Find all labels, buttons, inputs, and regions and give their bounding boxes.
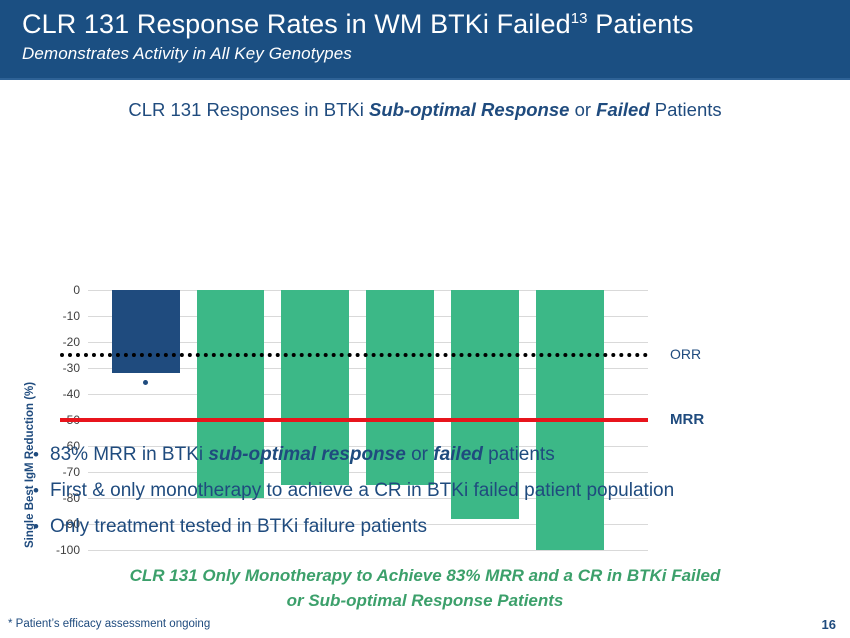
page-number: 16 xyxy=(822,617,836,632)
chart-title: CLR 131 Responses in BTKi Sub-optimal Re… xyxy=(0,99,850,121)
slide-title: CLR 131 Response Rates in WM BTKi Failed… xyxy=(22,6,850,42)
bullet-text: First & only monotherapy to achieve a CR… xyxy=(50,473,674,509)
slide-title-tail: Patients xyxy=(588,9,694,39)
bullet-text: 83% MRR in BTKi sub-optimal response or … xyxy=(50,437,555,473)
chart-title-part2: or xyxy=(569,99,596,120)
bullet-item: •First & only monotherapy to achieve a C… xyxy=(22,473,842,509)
callout-text: CLR 131 Only Monotherapy to Achieve 83% … xyxy=(0,563,850,613)
y-axis-tick-label: -100 xyxy=(56,543,80,557)
y-axis-tick-label: -40 xyxy=(63,387,80,401)
callout-line-1: CLR 131 Only Monotherapy to Achieve 83% … xyxy=(0,563,850,588)
reference-label-orr: ORR xyxy=(670,346,701,362)
bar-chart: Single Best IgM Reduction (%) 0-10-20-30… xyxy=(0,140,850,425)
bullet-dot-icon: • xyxy=(22,473,50,509)
slide-title-superscript: 13 xyxy=(571,10,588,27)
reference-line-mrr xyxy=(60,418,648,422)
bullet-text: Only treatment tested in BTKi failure pa… xyxy=(50,509,427,545)
bullet-dot-icon: • xyxy=(22,509,50,545)
slide-header: CLR 131 Response Rates in WM BTKi Failed… xyxy=(0,0,850,80)
asterisk-marker-icon xyxy=(143,380,148,385)
y-axis-tick-label: 0 xyxy=(73,283,80,297)
reference-label-mrr: MRR xyxy=(670,411,704,428)
chart-title-part1: CLR 131 Responses in BTKi xyxy=(128,99,369,120)
chart-title-emph2: Failed xyxy=(596,99,649,120)
gridline xyxy=(88,550,648,551)
slide-subtitle: Demonstrates Activity in All Key Genotyp… xyxy=(22,42,850,66)
y-axis-tick-label: -20 xyxy=(63,335,80,349)
reference-line-orr xyxy=(60,353,648,357)
bullet-list: •83% MRR in BTKi sub-optimal response or… xyxy=(22,437,842,545)
callout-line-2: or Sub-optimal Response Patients xyxy=(0,588,850,613)
bar[interactable] xyxy=(112,290,180,373)
bullet-item: •83% MRR in BTKi sub-optimal response or… xyxy=(22,437,842,473)
footnote: * Patient’s efficacy assessment ongoing xyxy=(8,618,210,630)
chart-title-part3: Patients xyxy=(650,99,722,120)
chart-title-emph1: Sub-optimal Response xyxy=(369,99,569,120)
slide-title-main: CLR 131 Response Rates in WM BTKi Failed xyxy=(22,9,571,39)
bullet-dot-icon: • xyxy=(22,437,50,473)
y-axis-tick-label: -10 xyxy=(63,309,80,323)
bullet-item: •Only treatment tested in BTKi failure p… xyxy=(22,509,842,545)
y-axis-tick-label: -30 xyxy=(63,361,80,375)
